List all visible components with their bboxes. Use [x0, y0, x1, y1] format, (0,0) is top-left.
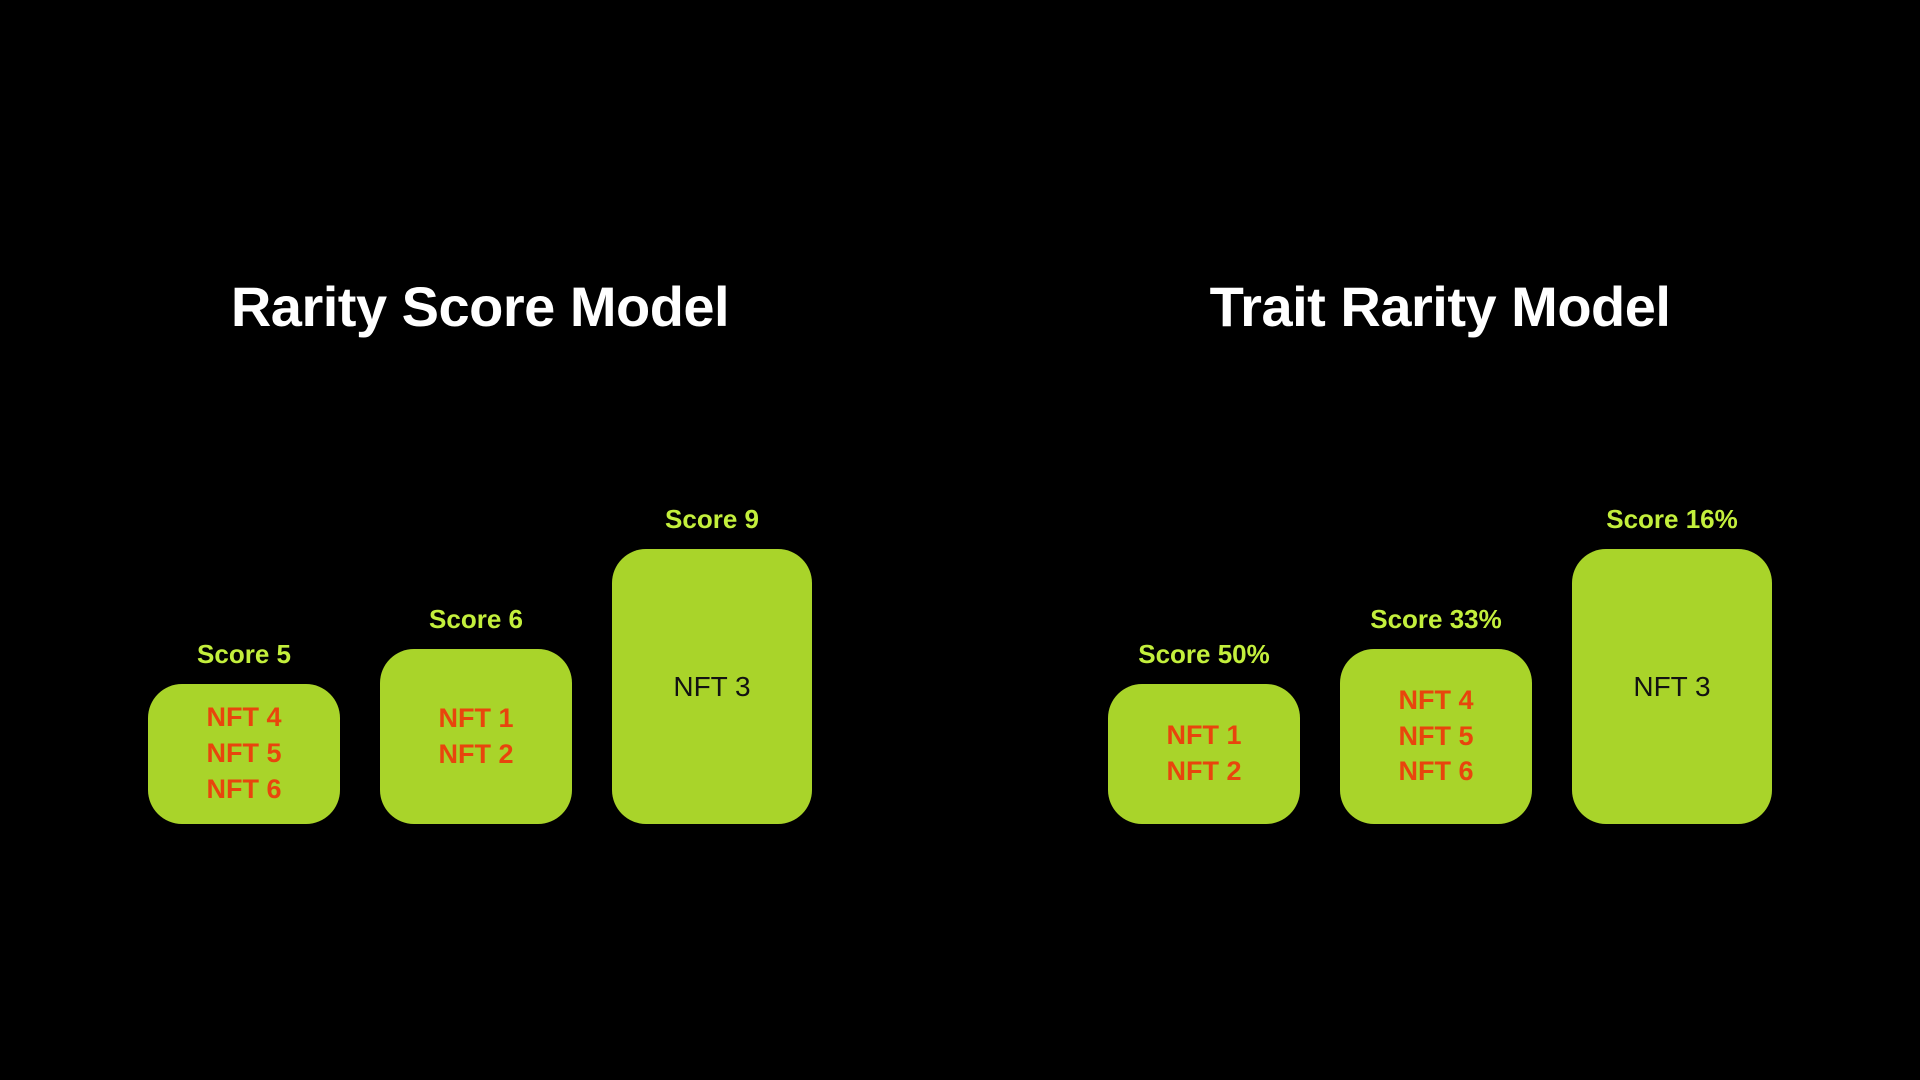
bar-rect[interactable]: NFT 1NFT 2 [380, 649, 572, 824]
nft-item-label: NFT 3 [673, 668, 750, 705]
bar-unit[interactable]: Score 16%NFT 3 [1572, 504, 1772, 824]
nft-item-label: NFT 4 [206, 700, 281, 736]
bar-unit[interactable]: Score 33%NFT 4NFT 5NFT 6 [1340, 604, 1532, 824]
slide-canvas: Rarity Score Model Score 5NFT 4NFT 5NFT … [0, 0, 1920, 1080]
score-label: Score 6 [429, 604, 523, 635]
nft-item-label: NFT 5 [1398, 719, 1473, 755]
bar-unit[interactable]: Score 5NFT 4NFT 5NFT 6 [148, 639, 340, 824]
bar-rect[interactable]: NFT 1NFT 2 [1108, 684, 1300, 824]
nft-item-label: NFT 3 [1633, 668, 1710, 705]
nft-item-label: NFT 2 [438, 737, 513, 773]
page-title-right: Trait Rarity Model [960, 274, 1920, 339]
score-label: Score 50% [1138, 639, 1270, 670]
bar-rect[interactable]: NFT 3 [612, 549, 812, 824]
bar-rect[interactable]: NFT 4NFT 5NFT 6 [148, 684, 340, 824]
nft-item-label: NFT 2 [1166, 754, 1241, 790]
nft-item-label: NFT 1 [1166, 718, 1241, 754]
nft-item-label: NFT 4 [1398, 683, 1473, 719]
nft-item-label: NFT 6 [206, 772, 281, 808]
nft-item-label: NFT 1 [438, 701, 513, 737]
panel-rarity-score-model: Rarity Score Model Score 5NFT 4NFT 5NFT … [0, 0, 960, 1080]
score-label: Score 33% [1370, 604, 1502, 635]
page-title-left: Rarity Score Model [0, 274, 960, 339]
score-label: Score 5 [197, 639, 291, 670]
bar-unit[interactable]: Score 50%NFT 1NFT 2 [1108, 639, 1300, 824]
panel-trait-rarity-model: Trait Rarity Model Score 50%NFT 1NFT 2Sc… [960, 0, 1920, 1080]
bar-unit[interactable]: Score 9NFT 3 [612, 504, 812, 824]
bar-rect[interactable]: NFT 4NFT 5NFT 6 [1340, 649, 1532, 824]
bar-unit[interactable]: Score 6NFT 1NFT 2 [380, 604, 572, 824]
score-label: Score 16% [1606, 504, 1738, 535]
nft-item-label: NFT 5 [206, 736, 281, 772]
bar-rect[interactable]: NFT 3 [1572, 549, 1772, 824]
bar-group-left: Score 5NFT 4NFT 5NFT 6Score 6NFT 1NFT 2S… [0, 404, 960, 824]
nft-item-label: NFT 6 [1398, 754, 1473, 790]
bar-group-right: Score 50%NFT 1NFT 2Score 33%NFT 4NFT 5NF… [960, 404, 1920, 824]
score-label: Score 9 [665, 504, 759, 535]
